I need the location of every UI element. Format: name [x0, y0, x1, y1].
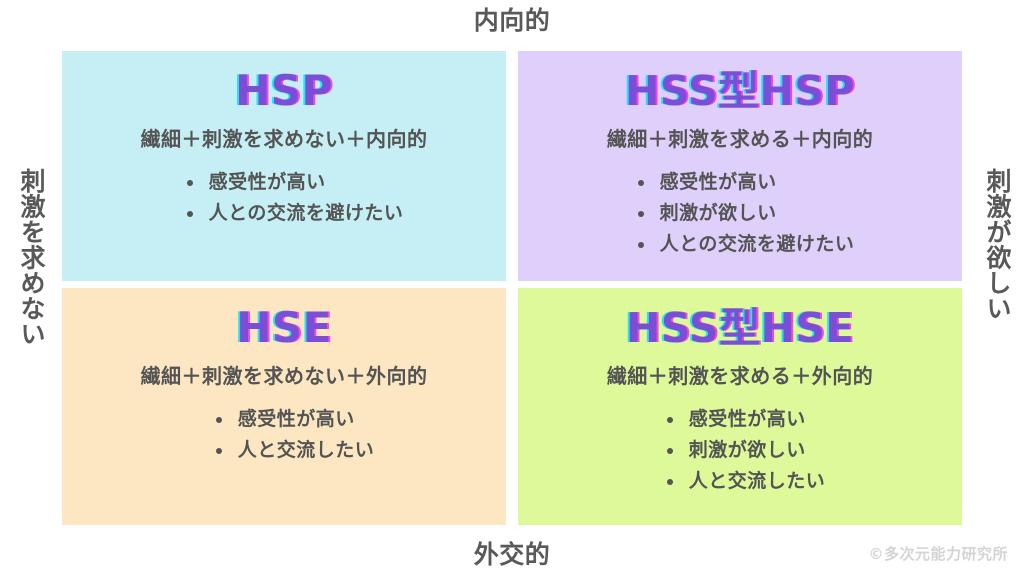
quadrant-subtitle-hss-hse: 繊細＋刺激を求める＋外向的 [518, 362, 962, 390]
list-item: 人と交流したい [663, 466, 826, 497]
list-item: 刺激が欲しい [634, 198, 855, 229]
list-item: 感受性が高い [634, 167, 855, 198]
quadrant-hss-hse: HSS型HSE 繊細＋刺激を求める＋外向的 感受性が高い 刺激が欲しい 人と交流… [518, 288, 962, 525]
quadrant-trait-list-hse: 感受性が高い 人と交流したい [212, 404, 375, 466]
axis-label-left: 刺激を求めない [12, 168, 46, 418]
quadrant-title-hsp: HSP [235, 65, 333, 117]
axis-label-right: 刺激が欲しい [978, 168, 1012, 418]
list-item: 人との交流を避けたい [634, 229, 855, 260]
list-item: 感受性が高い [212, 404, 375, 435]
quadrant-trait-list-hss-hsp: 感受性が高い 刺激が欲しい 人との交流を避けたい [634, 167, 855, 260]
axis-label-top: 内向的 [0, 4, 1024, 38]
quadrant-hsp: HSP 繊細＋刺激を求めない＋内向的 感受性が高い 人との交流を避けたい [62, 51, 506, 281]
quadrant-subtitle-hse: 繊細＋刺激を求めない＋外向的 [62, 362, 506, 390]
quadrant-hss-hsp: HSS型HSP 繊細＋刺激を求める＋内向的 感受性が高い 刺激が欲しい 人との交… [518, 51, 962, 281]
list-item: 感受性が高い [183, 167, 404, 198]
credit-watermark: ©多次元能力研究所 [868, 543, 1008, 564]
quadrant-subtitle-hsp: 繊細＋刺激を求めない＋内向的 [62, 125, 506, 153]
quadrant-subtitle-hss-hsp: 繊細＋刺激を求める＋内向的 [518, 125, 962, 153]
list-item: 感受性が高い [663, 404, 826, 435]
list-item: 人との交流を避けたい [183, 198, 404, 229]
quadrant-title-hse: HSE [236, 302, 332, 354]
quadrant-trait-list-hsp: 感受性が高い 人との交流を避けたい [183, 167, 404, 229]
quadrant-trait-list-hss-hse: 感受性が高い 刺激が欲しい 人と交流したい [663, 404, 826, 497]
quadrant-hse: HSE 繊細＋刺激を求めない＋外向的 感受性が高い 人と交流したい [62, 288, 506, 525]
quadrant-title-hss-hsp: HSS型HSP [625, 65, 855, 117]
quadrant-matrix: HSP 繊細＋刺激を求めない＋内向的 感受性が高い 人との交流を避けたい HSS… [62, 51, 962, 525]
quadrant-title-hss-hse: HSS型HSE [626, 302, 854, 354]
list-item: 人と交流したい [212, 435, 375, 466]
list-item: 刺激が欲しい [663, 435, 826, 466]
